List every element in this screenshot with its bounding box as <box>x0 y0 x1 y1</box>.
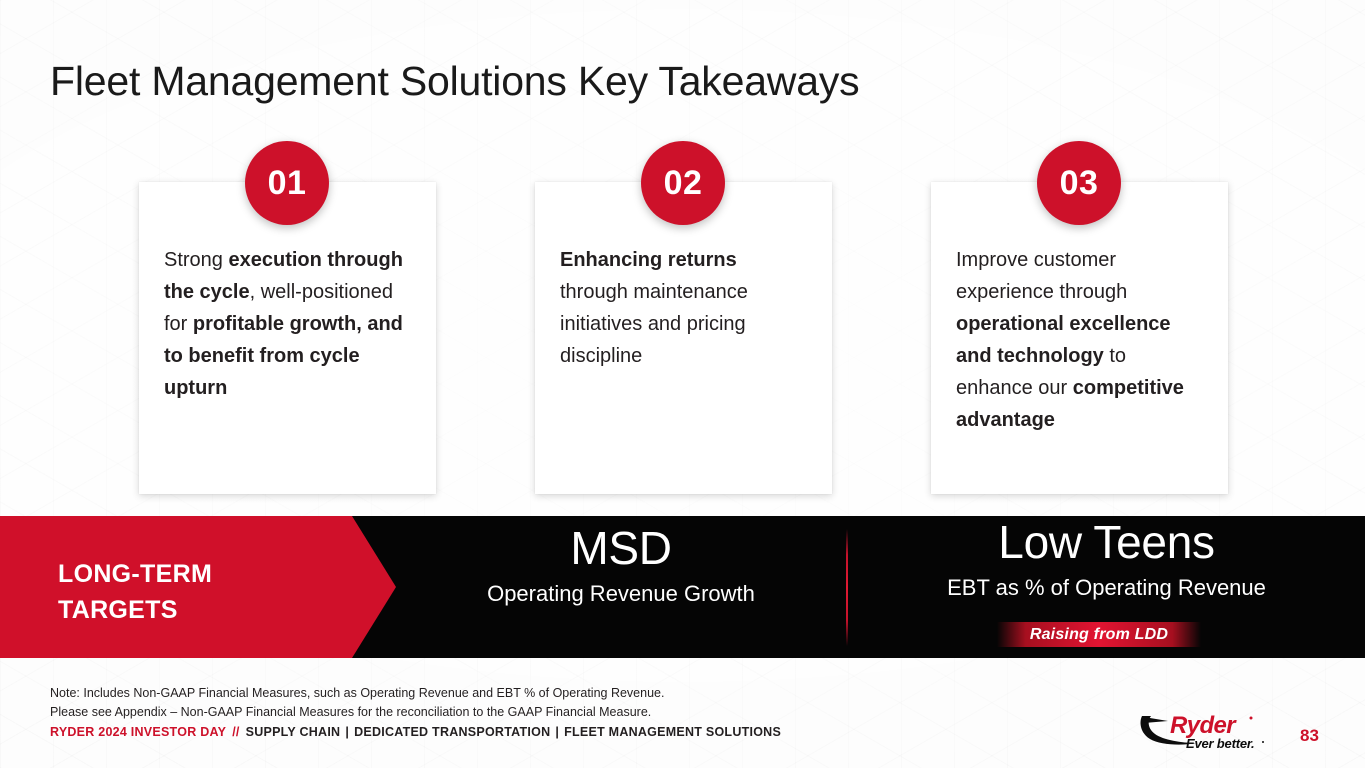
takeaway-card-2: Enhancing returns through maintenance in… <box>535 182 832 494</box>
footnote-block: Note: Includes Non-GAAP Financial Measur… <box>50 684 664 723</box>
footer-separator-2: | <box>555 725 559 739</box>
slide: Fleet Management Solutions Key Takeaways… <box>0 0 1365 768</box>
footer-separator-1: | <box>345 725 349 739</box>
footnote-line-1: Note: Includes Non-GAAP Financial Measur… <box>50 684 664 703</box>
long-term-targets-label-line1: LONG-TERM <box>58 557 212 593</box>
takeaway-card-1: Strong execution through the cycle, well… <box>139 182 436 494</box>
ryder-logo-icon: Ryder Ever better. <box>1138 709 1270 751</box>
text-run: Improve customer experience through <box>956 249 1127 303</box>
metric-1-description: Operating Revenue Growth <box>396 580 846 608</box>
page-number: 83 <box>1300 726 1319 746</box>
metric-2-value: Low Teens <box>848 518 1365 566</box>
footer-breadcrumb: RYDER 2024 INVESTOR DAY//SUPPLY CHAIN|DE… <box>50 725 781 739</box>
footer-segment-fleet-management: FLEET MANAGEMENT SOLUTIONS <box>564 725 781 739</box>
svg-text:Ryder: Ryder <box>1170 712 1237 739</box>
long-term-targets-label: LONG-TERM TARGETS <box>58 557 212 628</box>
takeaway-badge-2: 02 <box>641 141 725 225</box>
metric-operating-revenue-growth: MSD Operating Revenue Growth <box>396 524 846 608</box>
footer-segment-dedicated-transportation: DEDICATED TRANSPORTATION <box>354 725 550 739</box>
footer-slashes: // <box>232 725 239 739</box>
footnote-line-2: Please see Appendix – Non-GAAP Financial… <box>50 703 664 722</box>
footer-event-name: RYDER 2024 INVESTOR DAY <box>50 725 226 739</box>
footer-segment-supply-chain: SUPPLY CHAIN <box>246 725 341 739</box>
svg-text:Ever better.: Ever better. <box>1186 736 1254 751</box>
takeaway-badge-3: 03 <box>1037 141 1121 225</box>
takeaway-badge-2-label: 02 <box>664 164 703 203</box>
takeaway-badge-3-label: 03 <box>1060 164 1099 203</box>
takeaway-card-2-text: Enhancing returns through maintenance in… <box>560 244 810 372</box>
takeaway-card-3-text: Improve customer experience through oper… <box>956 244 1206 436</box>
takeaway-badge-1-label: 01 <box>268 164 307 203</box>
text-run-bold: profitable growth, and to benefit from c… <box>164 313 403 399</box>
raising-from-ldd-label: Raising from LDD <box>1030 626 1168 644</box>
text-run-bold: Enhancing returns <box>560 249 737 271</box>
metric-2-description: EBT as % of Operating Revenue <box>848 574 1365 602</box>
metric-1-value: MSD <box>396 524 846 572</box>
metric-ebt-percent: Low Teens EBT as % of Operating Revenue <box>848 518 1365 602</box>
ryder-logo: Ryder Ever better. <box>1138 709 1270 751</box>
long-term-targets-label-line2: TARGETS <box>58 593 212 629</box>
takeaway-card-group: Strong execution through the cycle, well… <box>0 0 1365 520</box>
takeaway-card-1-text: Strong execution through the cycle, well… <box>164 244 414 404</box>
text-run-bold: operational excellence and technology <box>956 313 1171 367</box>
text-run: Strong <box>164 249 228 271</box>
raising-from-ldd-badge: Raising from LDD <box>997 622 1201 647</box>
takeaway-badge-1: 01 <box>245 141 329 225</box>
text-run: through maintenance initiatives and pric… <box>560 281 748 367</box>
takeaway-card-3: Improve customer experience through oper… <box>931 182 1228 494</box>
